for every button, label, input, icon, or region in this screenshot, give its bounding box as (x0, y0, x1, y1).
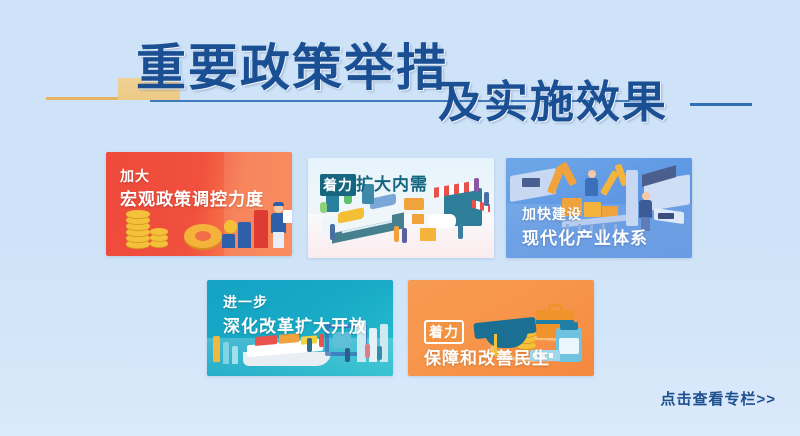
card4-skyline-c (232, 346, 238, 364)
policy-card-reform-opening[interactable]: 进一步 深化改革扩大开放 (207, 280, 393, 376)
policy-card-expand-demand[interactable]: 着力扩大内需 (308, 158, 494, 258)
card1-bar-mid (238, 222, 251, 248)
card3-worker-a-head (588, 170, 596, 178)
view-column-link[interactable]: 点击查看专栏>> (660, 388, 776, 409)
card2-person-e (474, 178, 479, 192)
policy-card-expand-demand-line1: 着力扩大内需 (320, 170, 428, 196)
card1-person-legs (273, 232, 284, 248)
card2-parcel-b (420, 228, 436, 241)
policy-card-livelihood-line1: 着力 (424, 320, 464, 344)
policy-card-modern-industry[interactable]: 加快建设 现代化产业体系 (506, 158, 692, 258)
policy-card-macro-regulation-line1: 加大 (120, 166, 150, 186)
card1-floating-coin (224, 220, 237, 233)
card2-delivery-truck (404, 198, 424, 210)
policy-card-reform-opening-line1: 进一步 (223, 292, 268, 312)
card2-person-d (458, 224, 463, 239)
card3-worker-a-body (585, 178, 598, 196)
card3-machine-column (626, 170, 638, 226)
banner-title-main: 重要政策举措 (136, 40, 448, 96)
card3-machine-left-panel (522, 178, 540, 187)
policy-banner: 重要政策举措 及实施效果 (0, 0, 800, 436)
card1-coin-stack-large (126, 214, 150, 248)
card2-counter (428, 214, 456, 228)
card1-bar-short (222, 234, 235, 248)
card3-worker-b-body (639, 200, 652, 218)
policy-card-modern-industry-line1: 加快建设 (522, 204, 582, 224)
card2-person-f (484, 192, 489, 206)
card3-machine-right-screen (658, 213, 674, 219)
policy-card-livelihood[interactable]: 着力 保障和改善民生 (408, 280, 594, 376)
policy-card-expand-demand-line2: 扩大内需 (356, 175, 428, 194)
policy-card-macro-regulation[interactable]: 加大 宏观政策调控力度 (106, 152, 292, 256)
policy-card-livelihood-chip: 着力 (424, 320, 464, 344)
card2-person-a (330, 224, 335, 240)
card4-person-c (345, 348, 350, 362)
card2-tree-b (320, 202, 327, 213)
card3-worker-b-head (642, 192, 650, 200)
card3-box-b (584, 202, 601, 217)
card1-bar-tall (254, 210, 268, 248)
card4-person-d (365, 344, 370, 358)
card3-robot-arm-c (600, 170, 619, 196)
card1-person-hair (273, 202, 284, 206)
gold-rule-decoration (46, 97, 120, 100)
card2-person-b (394, 226, 399, 242)
card1-donut-hole (195, 231, 211, 241)
card5-medicine-bottle-label (559, 338, 579, 354)
card2-person-c (402, 228, 407, 243)
banner-title-sub: 及实施效果 (438, 78, 668, 128)
policy-card-modern-industry-line2: 现代化产业体系 (522, 224, 648, 249)
card4-person-a (307, 338, 312, 352)
card5-briefcase-handle (548, 304, 563, 312)
title-right-dash-decoration (690, 103, 752, 106)
banner-title-block: 重要政策举措 及实施效果 (0, 0, 800, 140)
card4-person-e (377, 346, 382, 360)
card1-coin-stack-small (150, 228, 168, 248)
card5-medicine-bottle-cap (560, 322, 578, 330)
card4-skyline-b (223, 342, 229, 364)
policy-card-livelihood-line2: 保障和改善民生 (424, 344, 550, 369)
policy-card-reform-opening-line2: 深化改革扩大开放 (223, 312, 367, 337)
card2-parcel-a (412, 214, 424, 224)
policy-card-macro-regulation-line2: 宏观政策调控力度 (120, 185, 264, 210)
card1-person-clipboard (283, 210, 292, 223)
card4-skyline-a (213, 336, 220, 362)
policy-card-expand-demand-chip: 着力 (320, 174, 356, 196)
card4-tower-b (369, 328, 377, 362)
